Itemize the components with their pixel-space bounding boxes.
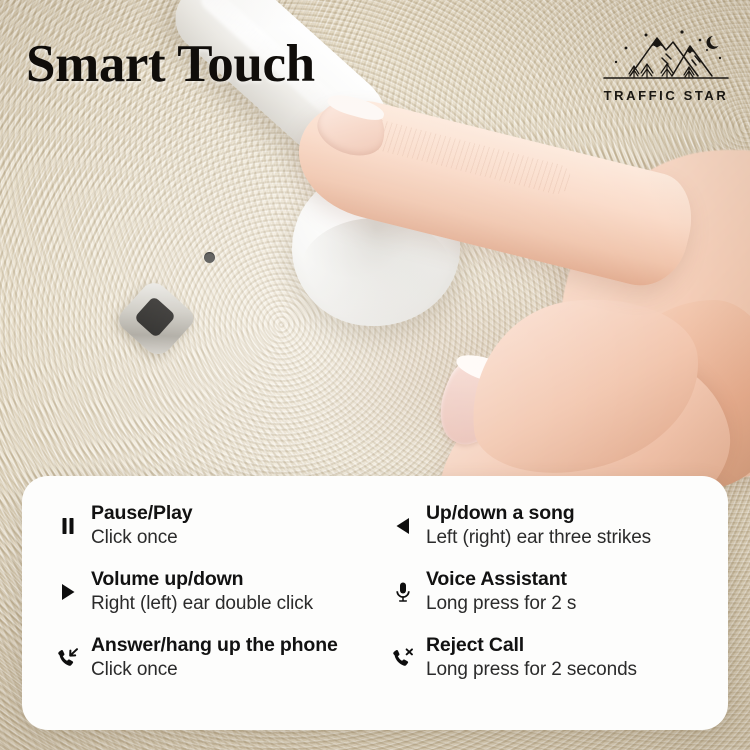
feature-subtitle: Click once [91,527,193,550]
feature-item-voice-assistant[interactable]: Voice Assistant Long press for 2 s [379,568,706,616]
feature-subtitle: Click once [91,659,338,682]
play-right-triangle-icon [56,568,80,616]
feature-title: Pause/Play [91,502,193,525]
feature-text: Up/down a song Left (right) ear three st… [426,502,651,550]
feature-text: Voice Assistant Long press for 2 s [426,568,576,616]
microphone-icon [391,568,415,616]
answer-call-icon [56,634,80,682]
feature-item-up-down-song[interactable]: Up/down a song Left (right) ear three st… [379,502,706,550]
feature-subtitle: Long press for 2 s [426,593,576,616]
feature-text: Volume up/down Right (left) ear double c… [91,568,313,616]
feature-subtitle: Right (left) ear double click [91,593,313,616]
feature-title: Volume up/down [91,568,313,591]
pause-icon [56,502,80,550]
feature-text: Pause/Play Click once [91,502,193,550]
feature-title: Voice Assistant [426,568,576,591]
feature-item-volume[interactable]: Volume up/down Right (left) ear double c… [44,568,371,616]
features-grid: Pause/Play Click once Up/down a song Lef… [44,502,706,710]
feature-subtitle: Long press for 2 seconds [426,659,637,682]
feature-text: Reject Call Long press for 2 seconds [426,634,637,682]
play-left-triangle-icon [391,502,415,550]
feature-text: Answer/hang up the phone Click once [91,634,338,682]
feature-title: Reject Call [426,634,637,657]
page-title: Smart Touch [26,38,315,91]
feature-subtitle: Left (right) ear three strikes [426,527,651,550]
mountain-pine-stars-moon-logo [600,26,732,86]
feature-title: Answer/hang up the phone [91,634,338,657]
brand-logo: TRAFFIC STAR [600,26,732,103]
reject-call-icon [391,634,415,682]
feature-title: Up/down a song [426,502,651,525]
features-card: Pause/Play Click once Up/down a song Lef… [22,476,728,730]
feature-item-pause-play[interactable]: Pause/Play Click once [44,502,371,550]
feature-item-reject-call[interactable]: Reject Call Long press for 2 seconds [379,634,706,682]
brand-name: TRAFFIC STAR [600,88,732,103]
feature-item-answer-call[interactable]: Answer/hang up the phone Click once [44,634,371,682]
